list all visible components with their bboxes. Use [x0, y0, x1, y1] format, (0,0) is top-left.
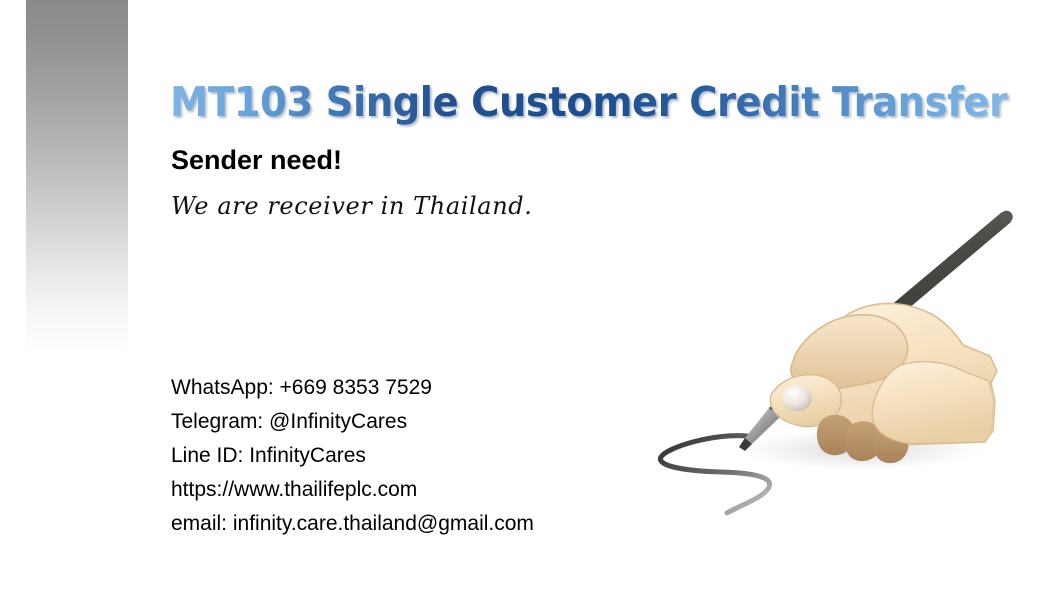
page-title: MT103 Single Customer Credit Transfer — [170, 78, 1008, 126]
slide-canvas: MT103 Single Customer Credit Transfer Se… — [0, 0, 1063, 600]
gradient-bar — [26, 0, 128, 352]
contact-line-telegram: Telegram: @InfinityCares — [171, 405, 534, 439]
contact-info-block: WhatsApp: +669 8353 7529 Telegram: @Infi… — [171, 371, 534, 541]
thumb-tip-highlight — [782, 385, 812, 411]
hand-writing-icon — [645, 195, 1045, 525]
contact-line-email[interactable]: email: infinity.care.thailand@gmail.com — [171, 507, 534, 541]
subtitle-script-text: We are receiver in Thailand. — [171, 192, 532, 220]
contact-line-website[interactable]: https://www.thailifeplc.com — [171, 473, 534, 507]
contact-line-whatsapp: WhatsApp: +669 8353 7529 — [171, 371, 534, 405]
headline-text: Sender need! — [171, 145, 342, 176]
contact-line-lineid: Line ID: InfinityCares — [171, 439, 534, 473]
